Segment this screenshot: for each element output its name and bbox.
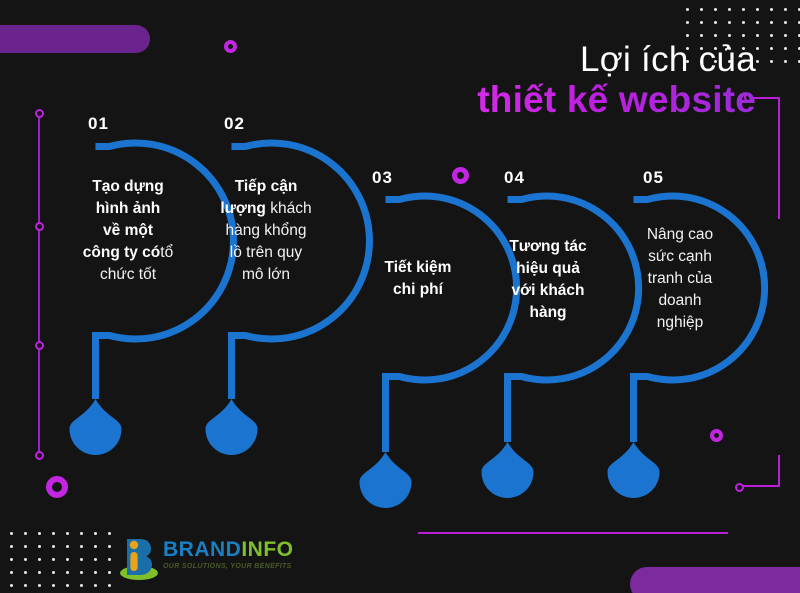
decor-dot: [38, 545, 41, 548]
step-droplet: [360, 452, 412, 508]
decor-dot: [38, 558, 41, 561]
logo-word-brand: BRAND: [163, 538, 241, 561]
decor-dot: [52, 558, 55, 561]
decor-dot: [94, 584, 97, 587]
step-arc-path: [386, 196, 517, 452]
step-bracket-03: [378, 196, 494, 518]
decor-dot: [24, 571, 27, 574]
decor-dot: [80, 584, 83, 587]
decor-bar-top-left: [0, 25, 150, 53]
decor-dot: [10, 584, 13, 587]
decor-dot: [66, 584, 69, 587]
decor-dot: [108, 571, 111, 574]
decor-dot: [108, 532, 111, 535]
decor-dot: [728, 34, 731, 37]
brandinfo-mark-icon: [113, 533, 161, 581]
logo-text: BRANDINFO OUR SOLUTIONS, YOUR BENEFITS: [163, 539, 294, 570]
decor-dot: [108, 584, 111, 587]
step-number-02: 02: [224, 114, 245, 134]
step-text-emphasis: Tiếp cận lượng: [220, 178, 297, 217]
decor-dot: [770, 21, 773, 24]
decor-dot: [700, 34, 703, 37]
decor-horizontal-line: [418, 532, 728, 534]
decor-dot: [714, 8, 717, 11]
decor-dot: [66, 545, 69, 548]
step-number-01: 01: [88, 114, 109, 134]
decor-dot: [94, 558, 97, 561]
decor-dot: [728, 21, 731, 24]
decor-dot: [24, 558, 27, 561]
decor-dot: [52, 532, 55, 535]
decor-dot: [108, 545, 111, 548]
decor-bar-bottom-right: [630, 567, 800, 593]
decor-dot: [686, 21, 689, 24]
title-line-2: thiết kế website: [477, 79, 756, 122]
decor-dot: [38, 532, 41, 535]
decor-dot: [94, 571, 97, 574]
decor-dot: [686, 34, 689, 37]
decor-dot: [52, 571, 55, 574]
decor-dot: [700, 8, 703, 11]
logo-wordmark: BRANDINFO: [163, 539, 294, 560]
decor-dot: [784, 8, 787, 11]
decor-dot: [742, 8, 745, 11]
decor-node-4: [35, 451, 44, 460]
step-text-01: Tạo dựng hình ảnh về một công ty cótổ ch…: [68, 176, 188, 286]
logo-word-info: INFO: [241, 538, 293, 561]
step-text-04: Tương tác hiệu quả với khách hàng: [486, 236, 610, 324]
decor-bracket-bottom-right: [739, 455, 780, 487]
decor-dot: [66, 558, 69, 561]
decor-dot: [784, 47, 787, 50]
decor-dot: [10, 558, 13, 561]
decor-dot: [52, 545, 55, 548]
step-number-04: 04: [504, 168, 525, 188]
decor-dot: [770, 34, 773, 37]
decor-ring-bottom-left: [46, 476, 68, 498]
decor-dot: [700, 21, 703, 24]
decor-dot-grid-bottom-left: [10, 532, 122, 593]
decor-dot: [784, 60, 787, 63]
decor-dot: [742, 21, 745, 24]
decor-dot: [24, 584, 27, 587]
step-number-05: 05: [643, 168, 664, 188]
decor-node-1: [35, 109, 44, 118]
step-text-05: Nâng cao sức cạnh tranh của doanh nghiệp: [620, 224, 740, 334]
decor-dot: [108, 558, 111, 561]
decor-node-3: [35, 341, 44, 350]
decor-dot: [38, 584, 41, 587]
decor-dot: [756, 34, 759, 37]
title-line-1: Lợi ích của: [477, 40, 756, 79]
decor-dot: [728, 8, 731, 11]
decor-dot: [80, 571, 83, 574]
decor-dot: [784, 21, 787, 24]
decor-dot: [756, 60, 759, 63]
decor-dot: [80, 532, 83, 535]
decor-dot: [756, 47, 759, 50]
step-droplet: [206, 399, 258, 455]
decor-dot: [10, 532, 13, 535]
decor-ring-top-left: [224, 40, 237, 53]
decor-dot: [770, 8, 773, 11]
decor-dot: [756, 8, 759, 11]
decor-ring-center: [452, 167, 469, 184]
decor-dot: [742, 34, 745, 37]
decor-dot: [686, 8, 689, 11]
decor-dot: [66, 532, 69, 535]
decor-dot: [52, 584, 55, 587]
decor-dot: [38, 571, 41, 574]
decor-dot: [80, 545, 83, 548]
decor-dot: [24, 545, 27, 548]
decor-dot: [80, 558, 83, 561]
decor-dot: [756, 21, 759, 24]
page-title: Lợi ích của thiết kế website: [477, 40, 756, 122]
decor-dot: [24, 532, 27, 535]
decor-dot: [784, 34, 787, 37]
decor-dot: [714, 34, 717, 37]
decor-dot: [66, 571, 69, 574]
step-text-03: Tiết kiệm chi phí: [360, 257, 476, 301]
decor-dot: [10, 571, 13, 574]
decor-node-2: [35, 222, 44, 231]
decor-dot: [10, 545, 13, 548]
decor-dot: [770, 47, 773, 50]
decor-dot: [94, 532, 97, 535]
step-text-emphasis: Tạo dựng hình ảnh về một công ty có: [83, 178, 164, 261]
decor-dot: [94, 545, 97, 548]
logo-tagline: OUR SOLUTIONS, YOUR BENEFITS: [163, 563, 294, 570]
brand-logo: BRANDINFO OUR SOLUTIONS, YOUR BENEFITS: [113, 531, 308, 583]
step-droplet: [70, 399, 122, 455]
infographic-canvas: Lợi ích của thiết kế website 01Tạo dựng …: [0, 0, 800, 593]
step-text-02: Tiếp cận lượng khách hàng khổng lồ trên …: [204, 176, 328, 286]
decor-dot: [770, 60, 773, 63]
decor-dot: [714, 21, 717, 24]
decor-vertical-line-left: [38, 113, 40, 455]
step-number-03: 03: [372, 168, 393, 188]
